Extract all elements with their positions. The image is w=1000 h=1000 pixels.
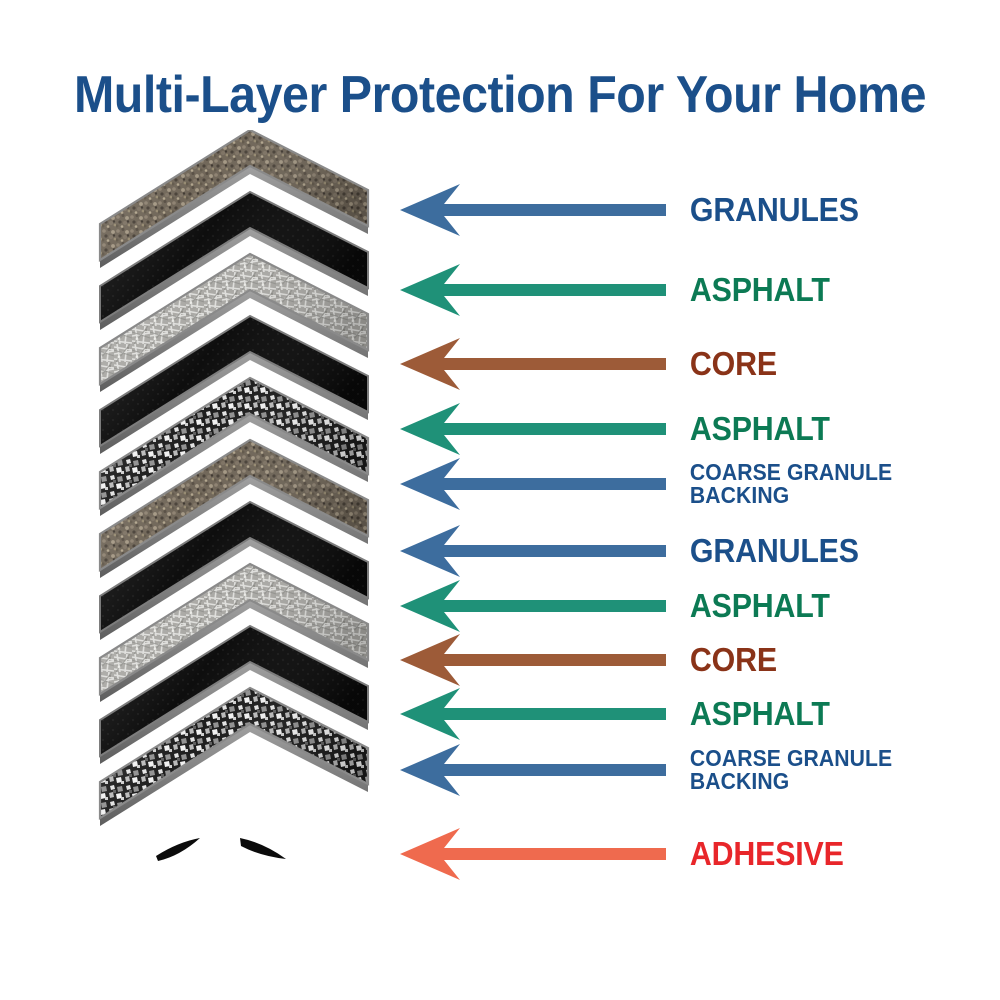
callout-label: CORE bbox=[666, 644, 935, 676]
callout-row: ASPHALT bbox=[398, 682, 958, 746]
left-arrow-icon bbox=[398, 578, 666, 634]
callout-row: ADHESIVE bbox=[398, 822, 958, 886]
left-arrow-icon bbox=[398, 262, 666, 318]
left-arrow-icon bbox=[398, 182, 666, 238]
callout-row: CORE bbox=[398, 332, 958, 396]
callout-label: ASPHALT bbox=[666, 698, 935, 730]
callout-label: ADHESIVE bbox=[666, 838, 935, 870]
callout-label: GRANULES bbox=[666, 194, 935, 226]
callout-label: ASPHALT bbox=[666, 590, 935, 622]
callout-label: ASPHALT bbox=[666, 413, 935, 445]
callout-label: COARSE GRANULE BACKING bbox=[666, 747, 935, 793]
callout-row: GRANULES bbox=[398, 178, 958, 242]
left-arrow-icon bbox=[398, 632, 666, 688]
callout-row: COARSE GRANULE BACKING bbox=[398, 738, 958, 802]
left-arrow-icon bbox=[398, 401, 666, 457]
left-arrow-icon bbox=[398, 456, 666, 512]
callout-list: GRANULESASPHALTCOREASPHALTCOARSE GRANULE… bbox=[0, 0, 1000, 1000]
left-arrow-icon bbox=[398, 686, 666, 742]
left-arrow-icon bbox=[398, 336, 666, 392]
callout-label: COARSE GRANULE BACKING bbox=[666, 461, 935, 507]
callout-row: COARSE GRANULE BACKING bbox=[398, 452, 958, 516]
left-arrow-icon bbox=[398, 523, 666, 579]
left-arrow-icon bbox=[398, 826, 666, 882]
callout-label: CORE bbox=[666, 348, 935, 380]
callout-label: ASPHALT bbox=[666, 274, 935, 306]
left-arrow-icon bbox=[398, 742, 666, 798]
callout-row: ASPHALT bbox=[398, 258, 958, 322]
callout-label: GRANULES bbox=[666, 535, 935, 567]
